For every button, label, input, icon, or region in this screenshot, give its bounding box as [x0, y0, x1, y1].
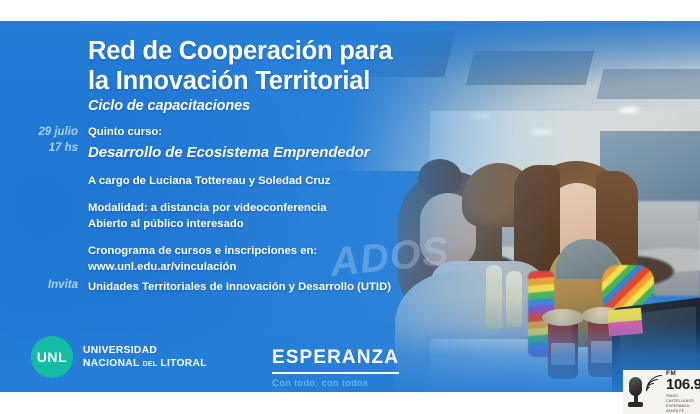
unl-logo-litoral: LITORAL — [160, 358, 206, 369]
page-title: Red de Cooperación para la Innovación Te… — [88, 36, 418, 96]
unl-logo-mark: UNL — [31, 336, 73, 378]
radio-waves-icon — [646, 375, 664, 409]
radio-station-logo: FM 106.9 RADIO CASTELLANOS ESPERANZA · S… — [623, 370, 700, 414]
flyer-image: ADOS Red de Cooperación para la Innovaci… — [0, 0, 700, 414]
title-line-2: la Innovación Territorial — [88, 66, 418, 96]
schedule-line-1: Cronograma de cursos e inscripciones en: — [88, 243, 317, 259]
course-block: Quinto curso: Desarrollo de Ecosistema E… — [88, 124, 370, 164]
schedule-url[interactable]: www.unl.edu.ar/vinculación — [88, 259, 317, 275]
radio-station-line-2: ESPERANZA · SANTA FE — [666, 404, 700, 414]
title-line-1: Red de Cooperación para — [88, 36, 418, 66]
unl-logo-line-1: UNIVERSIDAD — [83, 344, 207, 357]
modality-block: Modalidad: a distancia por videoconferen… — [88, 200, 327, 233]
modality-line-2: Abierto al público interesado — [88, 216, 327, 232]
schedule-block: Cronograma de cursos e inscripciones en:… — [88, 243, 317, 276]
invite-value: Unidades Territoriales de Innovación y D… — [88, 279, 391, 295]
speakers-block: A cargo de Luciana Tottereau y Soledad C… — [88, 173, 330, 189]
poster-content: Red de Cooperación para la Innovación Te… — [0, 21, 700, 392]
event-date-block: 29 julio 17 hs — [0, 124, 78, 157]
event-time: 17 hs — [0, 140, 78, 156]
unl-logo-text: UNIVERSIDAD NACIONAL DEL LITORAL — [83, 344, 207, 370]
speakers-text: A cargo de Luciana Tottereau y Soledad C… — [88, 173, 330, 189]
page-subtitle: Ciclo de capacitaciones — [88, 98, 250, 114]
esperanza-tagline: Con todo, con todos — [272, 378, 399, 389]
poster-canvas: ADOS Red de Cooperación para la Innovaci… — [0, 21, 700, 392]
microphone-icon — [627, 375, 644, 409]
esperanza-wordmark: ESPERANZA — [272, 347, 399, 374]
microphone-base — [628, 402, 643, 407]
course-name: Desarrollo de Ecosistema Emprendedor — [88, 142, 370, 164]
invite-label: Invita — [0, 279, 78, 291]
esperanza-logo: ESPERANZA Con todo, con todos — [272, 347, 399, 389]
unl-logo: UNL UNIVERSIDAD NACIONAL DEL LITORAL — [31, 336, 207, 378]
microphone-head — [629, 377, 642, 396]
unl-logo-line-2: NACIONAL DEL LITORAL — [83, 357, 207, 370]
modality-line-1: Modalidad: a distancia por videoconferen… — [88, 200, 327, 216]
unl-logo-nacional: NACIONAL — [83, 358, 139, 369]
course-lead: Quinto curso: — [88, 124, 370, 140]
unl-logo-del: DEL — [143, 361, 158, 368]
event-day: 29 julio — [0, 124, 78, 140]
